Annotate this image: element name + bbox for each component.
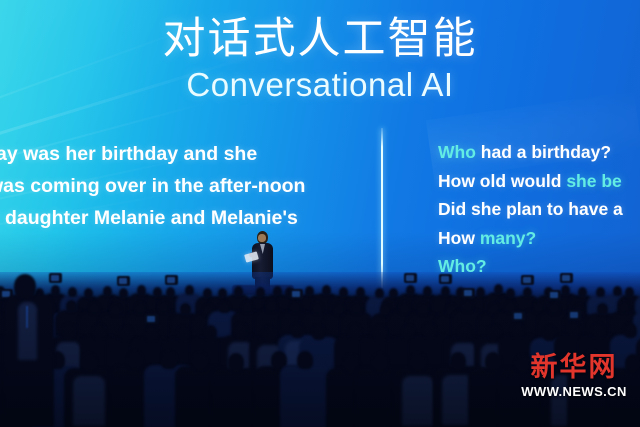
question-keyword: she be	[566, 171, 621, 191]
audience-person-head	[375, 288, 384, 298]
audience-person-head	[511, 323, 524, 338]
audience-person-head	[533, 301, 544, 313]
audience-person-head	[488, 325, 501, 340]
audience-person-head	[103, 286, 112, 296]
audience-person-head	[418, 303, 429, 315]
audience-phone-screen	[147, 316, 155, 322]
audience-person-head	[62, 324, 75, 339]
audience-person-head	[291, 323, 304, 338]
slide-title-chinese: 对话式人工智能	[0, 18, 640, 61]
audience-person-head	[158, 301, 169, 313]
audience-person-head	[476, 287, 485, 297]
question-keyword: many?	[480, 228, 536, 248]
audience-person-head	[592, 323, 605, 338]
audience-person-head	[624, 323, 637, 338]
question-text: How	[438, 228, 480, 248]
audience-person-head	[549, 302, 560, 314]
audience-person-head	[89, 302, 100, 314]
slide-title-block: 对话式人工智能 Conversational AI	[0, 18, 640, 101]
audience-person-head	[110, 304, 121, 316]
audience-phone-screen	[119, 278, 127, 284]
audience-person-head	[410, 353, 426, 371]
audience-person-head	[561, 285, 570, 295]
audience-person-head	[625, 287, 634, 297]
audience-person-shirt	[402, 376, 434, 426]
audience-phone-screen	[570, 312, 578, 318]
audience-person-head	[263, 326, 276, 341]
audience-person-head	[567, 322, 580, 337]
audience-person-head	[180, 303, 191, 315]
presenter-face	[258, 234, 266, 242]
audience-person-head	[203, 288, 212, 298]
audience-person-head	[192, 352, 208, 370]
questions-column: Who had a birthday?How old would she beD…	[438, 138, 640, 281]
audience-person-head	[256, 287, 265, 297]
audience-person-head	[423, 286, 432, 296]
audience-phone-screen	[292, 291, 300, 297]
audience-person-head	[374, 325, 387, 340]
audience-person-head	[423, 323, 436, 338]
question-text: had a birthday?	[476, 142, 611, 162]
audience-phone-screen	[441, 276, 449, 282]
audience-person-head	[81, 353, 97, 371]
audience-person-head	[441, 286, 450, 296]
audience-person-head	[578, 287, 587, 297]
audience-person-head	[389, 288, 398, 298]
audience-phone-screen	[51, 275, 59, 281]
audience-person-head	[494, 284, 503, 294]
audience-person-head	[84, 288, 93, 298]
xinhua-watermark: 新华网 WWW.NEWS.CN	[516, 354, 632, 408]
audience-person-head	[597, 303, 608, 315]
foreground-standing-person-head	[14, 274, 36, 298]
audience-person-head	[137, 285, 146, 295]
audience-person-head	[596, 287, 605, 297]
audience-person-head	[234, 286, 243, 296]
audience-person-head	[312, 302, 323, 314]
audience-phone-screen	[464, 290, 472, 296]
audience-person-head	[523, 287, 532, 297]
audience-person-head	[458, 325, 471, 340]
audience-person-head	[93, 324, 106, 339]
audience-person-head	[462, 300, 473, 312]
question-text: How old would	[438, 171, 566, 191]
foreground-person-lanyard	[26, 306, 28, 328]
audience-person-head	[234, 323, 247, 338]
audience-phone-screen	[523, 277, 531, 283]
audience-person-head	[242, 301, 253, 313]
audience-person-head	[145, 326, 158, 341]
question-keyword: Who	[438, 142, 476, 162]
audience-person-head	[185, 285, 194, 295]
audience-person-head	[68, 287, 77, 297]
audience-phone-screen	[550, 292, 558, 298]
audience-person-head	[485, 352, 501, 370]
audience-person-head	[119, 288, 128, 298]
audience-person-head	[127, 351, 143, 369]
transcript-line: was coming over in the after-noon	[0, 170, 372, 202]
audience-phone-screen	[514, 313, 522, 319]
audience-person-head	[51, 285, 60, 295]
audience-person-head	[66, 300, 77, 312]
audience-person-head	[297, 351, 313, 369]
slide-title-english: Conversational AI	[0, 68, 640, 101]
photo-scene: 对话式人工智能 Conversational AI ay was her bir…	[0, 0, 640, 427]
audience-person-head	[506, 288, 515, 298]
transcript-column: ay was her birthday and she was coming o…	[0, 138, 372, 234]
audience-person-head	[356, 287, 365, 297]
audience-person-head	[161, 351, 177, 369]
audience-person-head	[339, 287, 348, 297]
audience-person	[280, 365, 330, 427]
question-line: How many?	[438, 224, 640, 253]
audience-person-head	[135, 302, 146, 314]
audience-person-head	[450, 352, 466, 370]
audience-phone-screen	[406, 275, 414, 281]
audience-person-head	[266, 300, 277, 312]
audience-person-head	[177, 326, 190, 341]
audience-person-head	[348, 324, 361, 339]
audience-person-head	[613, 286, 622, 296]
audience-person-head	[351, 302, 362, 314]
audience-person-head	[166, 287, 175, 297]
question-line: Who had a birthday?	[438, 138, 640, 167]
audience-person-head	[204, 325, 217, 340]
audience-person-head	[305, 286, 314, 296]
question-line: Did she plan to have a	[438, 195, 640, 224]
audience-person-shirt	[73, 376, 105, 426]
audience-person-head	[399, 302, 410, 314]
transcript-line: ay was her birthday and she	[0, 138, 372, 170]
audience-person-head	[619, 301, 630, 313]
audience-person-head	[219, 301, 230, 313]
question-line: How old would she be	[438, 167, 640, 196]
audience-person-head	[312, 325, 325, 340]
audience-person-head	[406, 285, 415, 295]
audience-phone-screen	[167, 277, 175, 283]
audience-person-head	[343, 354, 359, 372]
question-text: Did she plan to have a	[438, 199, 623, 219]
audience-person-head	[120, 326, 133, 341]
audience-phone-screen	[562, 275, 570, 281]
audience-person-head	[228, 353, 244, 371]
audience-person-head	[218, 288, 227, 298]
transcript-line: r daughter Melanie and Melanie's	[0, 202, 372, 234]
watermark-url: WWW.NEWS.CN	[516, 385, 632, 398]
audience-person-head	[290, 301, 301, 313]
slide-column-divider	[381, 128, 383, 288]
audience-person-head	[153, 287, 162, 297]
watermark-brand-chinese: 新华网	[516, 354, 632, 381]
audience-person-head	[322, 285, 331, 295]
audience-phone-screen	[2, 291, 10, 297]
audience-person-head	[273, 286, 282, 296]
audience-person-head	[372, 353, 388, 371]
